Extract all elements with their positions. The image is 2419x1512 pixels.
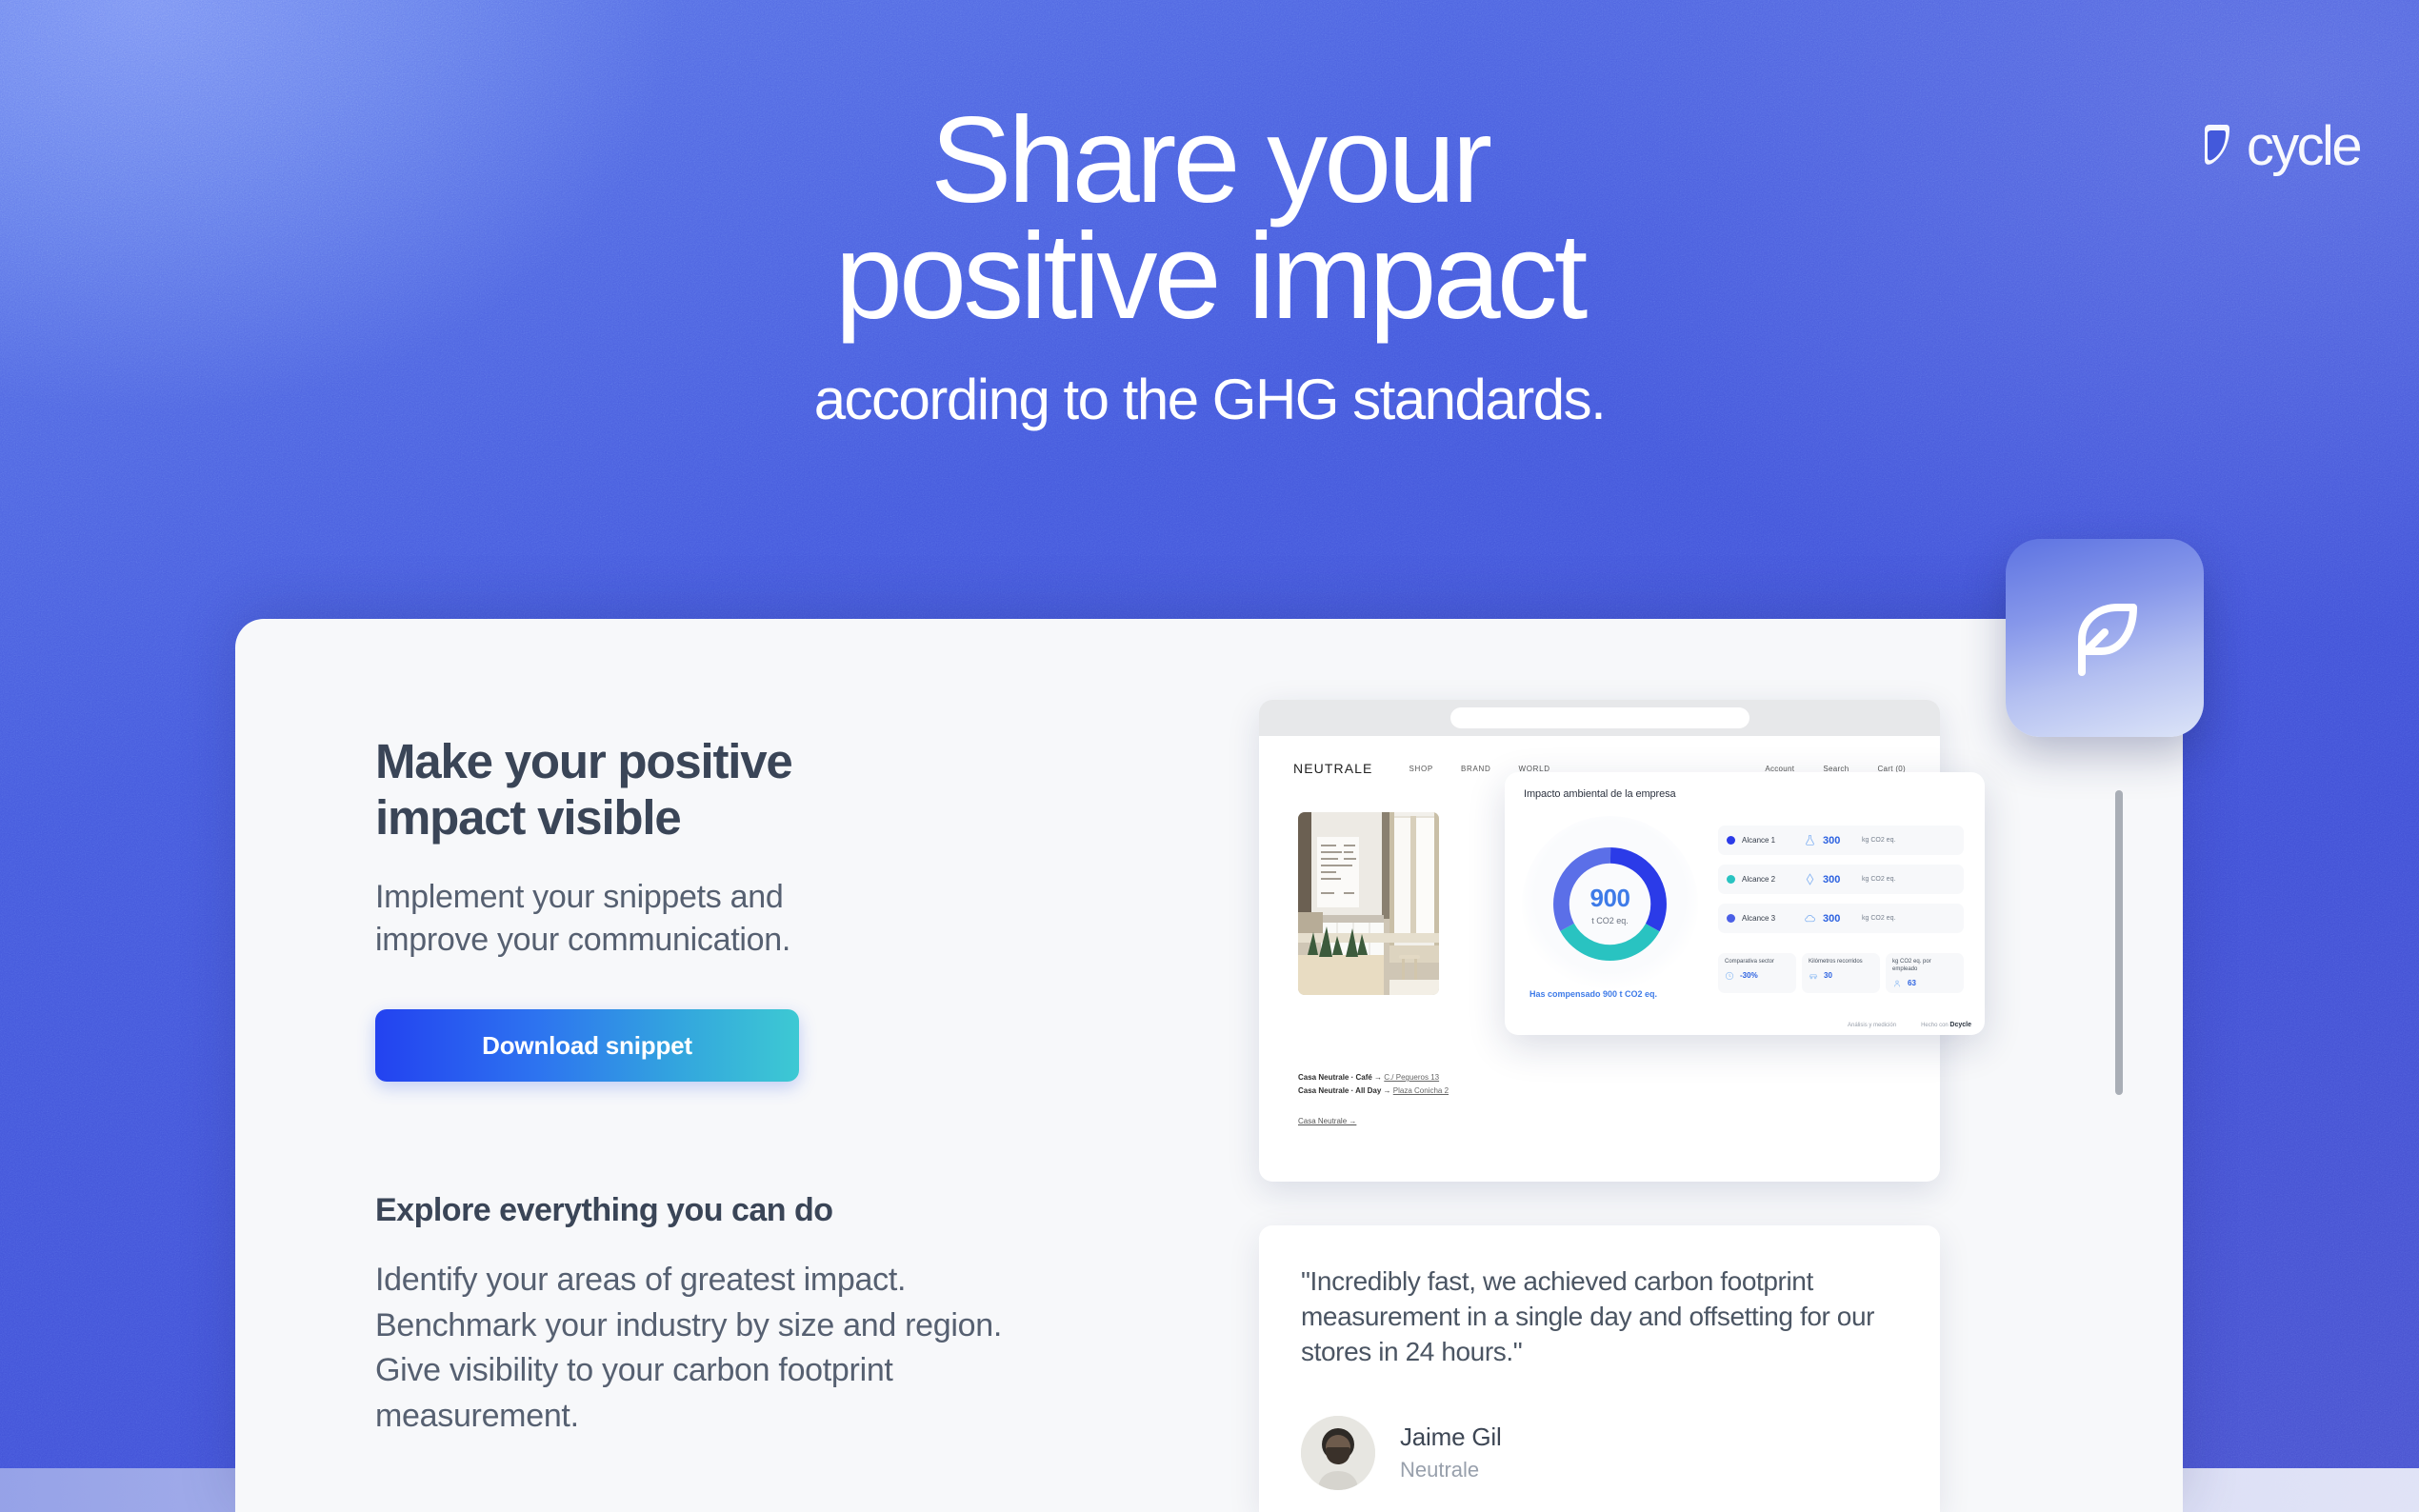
store-list-item: Casa Neutrale · All Day → Plaza Conicha … [1298, 1084, 1612, 1098]
scope-color-dot [1727, 875, 1735, 884]
scope-row-2: Alcance 2 300 kg CO2 eq. [1718, 865, 1964, 894]
store-name: Casa Neutrale · Café [1298, 1073, 1372, 1082]
store-list-item: Casa Neutrale · Café → C./ Pegueros 13 [1298, 1071, 1612, 1084]
page-title-line-2: positive impact [0, 229, 2419, 326]
scope-label: Alcance 3 [1742, 914, 1797, 923]
scope-value: 300 [1823, 835, 1855, 846]
lead-subtext: Implement your snippets and improve your… [375, 876, 1061, 962]
scope-label: Alcance 2 [1742, 875, 1797, 884]
panel-left-column: Make your positive impact visible Implem… [375, 733, 1061, 1439]
metric-value: 63 [1908, 979, 1916, 987]
snippet-title: Impacto ambiental de la empresa [1524, 788, 1966, 800]
snippet-footer-brand: Dcycle [1949, 1022, 1971, 1028]
dcycle-leaf-d-icon [2197, 122, 2243, 171]
page-scrollbar[interactable] [2112, 628, 2126, 1512]
bolt-icon [1804, 873, 1816, 885]
metric-value: -30% [1740, 971, 1758, 980]
mock-site-header: NEUTRALE SHOP BRAND WORLD Account Search… [1259, 736, 1940, 776]
metric-box-per-employee: kg CO2 eq. por empleado 63 [1886, 953, 1964, 993]
testimonial-card: "Incredibly fast, we achieved carbon foo… [1259, 1225, 1940, 1512]
testimonial-author: Jaime Gil Neutrale [1301, 1416, 1898, 1490]
metric-label: kg CO2 eq. por empleado [1892, 959, 1957, 974]
dcycle-logo-text: cycle [2247, 119, 2360, 174]
lead-heading: Make your positive impact visible [375, 733, 1061, 846]
mock-nav-item-shop[interactable]: SHOP [1409, 765, 1432, 773]
store-list: Casa Neutrale · Café → C./ Pegueros 13 C… [1298, 1071, 1612, 1098]
car-icon [1809, 971, 1818, 981]
metric-box-sector: Comparativa sector -30% [1718, 953, 1796, 993]
clock-icon [1725, 971, 1734, 981]
cafe-interior-photo [1298, 812, 1439, 995]
scope-row-1: Alcance 1 300 kg CO2 eq. [1718, 826, 1964, 855]
page-title: Share your positive impact [0, 0, 2419, 327]
store-address[interactable]: C./ Pegueros 13 [1384, 1073, 1439, 1082]
lead-subtext-line-2: improve your communication. [375, 922, 790, 958]
emissions-donut-chart: 900 t CO2 eq. [1522, 816, 1698, 992]
snippet-footer-right-group: Hecho con Dcycle [1921, 1022, 1971, 1028]
scrollbar-thumb[interactable] [2115, 790, 2123, 1095]
lead-subtext-line-1: Implement your snippets and [375, 879, 783, 915]
leaf-icon [2055, 588, 2154, 687]
scope-row-3: Alcance 3 300 kg CO2 eq. [1718, 904, 1964, 933]
testimonial-author-org: Neutrale [1400, 1458, 1502, 1482]
snippet-footer-right: Hecho con [1921, 1023, 1949, 1028]
store-name: Casa Neutrale · All Day [1298, 1086, 1381, 1095]
explore-heading: Explore everything you can do [375, 1192, 1061, 1229]
testimonial-author-name: Jaime Gil [1400, 1422, 1502, 1452]
browser-chrome-bar [1259, 700, 1940, 736]
mock-nav-item-brand[interactable]: BRAND [1461, 765, 1491, 773]
store-more-link[interactable]: Casa Neutrale → [1298, 1117, 1356, 1125]
lead-heading-line-1: Make your positive [375, 734, 792, 788]
explore-body: Identify your areas of greatest impact. … [375, 1258, 1061, 1439]
avatar [1301, 1416, 1375, 1490]
metric-label: Kilómetros recorridos [1809, 959, 1873, 966]
donut-total-value: 900 [1590, 884, 1630, 913]
page-subtitle: according to the GHG standards. [0, 367, 2419, 432]
scope-label: Alcance 1 [1742, 836, 1797, 845]
scope-unit: kg CO2 eq. [1862, 837, 1895, 844]
scope-unit: kg CO2 eq. [1862, 915, 1895, 922]
store-arrow: → [1374, 1073, 1382, 1082]
metric-value: 30 [1824, 971, 1832, 980]
scope-value: 300 [1823, 874, 1855, 885]
store-address[interactable]: Plaza Conicha 2 [1393, 1086, 1449, 1095]
scope-color-dot [1727, 914, 1735, 923]
testimonial-quote: "Incredibly fast, we achieved carbon foo… [1301, 1263, 1898, 1370]
person-icon [1892, 979, 1902, 988]
metric-box-km: Kilómetros recorridos 30 [1802, 953, 1880, 993]
scope-value: 300 [1823, 913, 1855, 925]
mock-site-brand: NEUTRALE [1293, 761, 1372, 776]
scope-unit: kg CO2 eq. [1862, 876, 1895, 883]
store-arrow: → [1384, 1086, 1391, 1095]
leaf-badge [2006, 539, 2204, 737]
dcycle-logo[interactable]: cycle [2197, 119, 2360, 174]
browser-url-bar[interactable] [1450, 707, 1749, 728]
flask-icon [1804, 834, 1816, 846]
hero-section: Share your positive impact according to … [0, 0, 2419, 432]
donut-center-label: 900 t CO2 eq. [1590, 884, 1630, 925]
snippet-footer: Análisis y medición Hecho con Dcycle [1848, 1022, 1971, 1028]
lead-heading-line-2: impact visible [375, 790, 681, 845]
testimonial-author-text: Jaime Gil Neutrale [1400, 1422, 1502, 1482]
cloud-icon [1804, 912, 1816, 925]
offset-caption: Has compensado 900 t CO2 eq. [1529, 989, 1657, 999]
impact-snippet-card: Impacto ambiental de la empresa 900 t CO… [1505, 772, 1985, 1035]
content-panel: Make your positive impact visible Implem… [235, 619, 2183, 1512]
snippet-footer-left: Análisis y medición [1848, 1023, 1896, 1028]
download-snippet-button[interactable]: Download snippet [375, 1009, 799, 1082]
metric-label: Comparativa sector [1725, 959, 1789, 966]
scope-color-dot [1727, 836, 1735, 845]
donut-total-unit: t CO2 eq. [1590, 916, 1630, 925]
